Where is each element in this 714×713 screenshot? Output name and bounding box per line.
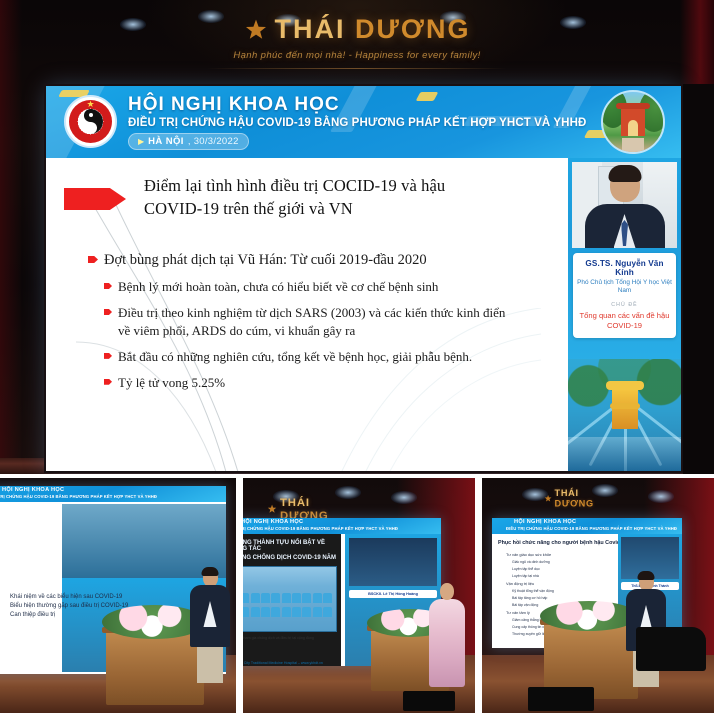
brand-name-part2: DƯƠNG — [355, 14, 470, 44]
slide-title: Điểm lại tình hình điều trị COCID-19 và … — [144, 174, 484, 221]
bullet-marker-icon — [104, 283, 112, 289]
speaker-video-panel: GS.TS. Nguyễn Văn Kính Phó Chủ tịch Tổng… — [568, 158, 681, 471]
thumb1-inset-photo — [62, 504, 226, 578]
thumb3-stage-monitor — [528, 687, 594, 711]
bullet-item: Điều trị theo kinh nghiệm từ dịch SARS (… — [104, 304, 518, 340]
brand-divider — [207, 68, 507, 69]
brand-tagline: Hạnh phúc đến mọi nhà! - Happiness for e… — [0, 50, 714, 61]
star-logo-icon — [267, 504, 277, 514]
bullet-marker-icon — [104, 379, 112, 385]
backdrop-branding: THÁI DƯƠNG Hạnh phúc đến mọi nhà! - Happ… — [0, 14, 714, 69]
thumb3-line: Tư vấn giáo dục sức khỏe — [506, 552, 610, 557]
thumbnail-3[interactable]: THÁI DƯƠNG HỘI NGHỊ KHOA HỌC ĐIỀU TRỊ CH… — [482, 478, 714, 713]
bullet-item: Bệnh lý mới hoàn toàn, chưa có hiểu biết… — [104, 278, 518, 296]
thumb3-flower-arrangement — [540, 601, 638, 631]
thumb2-speaker-name: BSCKII. Lê Thị Hồng Hoàng — [349, 590, 437, 598]
temple-photo-circle — [601, 90, 665, 154]
bullet-marker-icon — [104, 353, 112, 359]
thumb3-line: Kỹ thuật tổng thể vận động — [512, 589, 610, 593]
bullet-text: Bệnh lý mới hoàn toàn, chưa có hiểu biết… — [118, 278, 438, 296]
location-label: HÀ NỘI — [148, 136, 184, 147]
star-logo-icon — [244, 18, 268, 42]
bullet-marker-icon — [88, 256, 98, 263]
slide-header-banner: ★ HỘI NGHỊ KHOA HỌC ĐIỀU TRỊ CHỨNG HẬU C… — [46, 86, 681, 158]
bullet-text: Đợt bùng phát dịch tại Vũ Hán: Từ cuối 2… — [104, 250, 427, 270]
bullet-text: Điều trị theo kinh nghiệm từ dịch SARS (… — [118, 304, 518, 340]
slide-bullet-list: Đợt bùng phát dịch tại Vũ Hán: Từ cuối 2… — [88, 250, 518, 400]
speaker-topic: Tổng quan các vấn đề hậu COVID-19 — [577, 311, 672, 331]
chevron-right-icon: ▶ — [138, 137, 144, 146]
thumb2-presenter — [429, 583, 465, 687]
thumb1-header-subtitle: ĐIỀU TRỊ CHỨNG HẬU COVID-19 BẰNG PHƯƠNG … — [0, 494, 157, 499]
thumb2-header-title: HỘI NGHỊ KHOA HỌC — [243, 519, 303, 525]
yin-yang-icon — [78, 109, 103, 134]
screen-side-dark-area — [683, 84, 714, 474]
bullet-marker-icon — [104, 309, 112, 315]
topic-label: CHỦ ĐỀ — [577, 302, 672, 308]
bullet-item: Tỷ lệ tử vong 5.25% — [104, 374, 518, 392]
thumb3-grand-piano — [636, 627, 706, 671]
thumb2-footer: Ho Chi Minh City Traditional Medicine Ho… — [243, 661, 323, 665]
bullet-item: Bắt đầu có những nghiên cứu, tổng kết về… — [104, 348, 518, 366]
brand-name: THÁI DƯƠNG — [275, 14, 471, 45]
temple-gate-icon — [621, 108, 645, 136]
bullet-item: Đợt bùng phát dịch tại Vũ Hán: Từ cuối 2… — [88, 250, 518, 270]
location-date-badge: ▶ HÀ NỘI , 30/3/2022 — [128, 133, 249, 150]
thumb3-line: Luyện tập tại nhà — [512, 574, 610, 578]
thumb1-line: Khái niệm về các biểu hiện sau COVID-19 — [10, 594, 128, 600]
bullet-text: Bắt đầu có những nghiên cứu, tổng kết về… — [118, 348, 472, 366]
turtle-tower-graphic — [568, 359, 681, 471]
emblem-star-icon: ★ — [86, 100, 94, 109]
star-logo-icon — [544, 494, 552, 502]
thumb3-header-subtitle: ĐIỀU TRỊ CHỨNG HẬU COVID-19 BẰNG PHƯƠNG … — [506, 526, 677, 531]
thumb2-photo-caption: Nhân lực tham gia chống dịch và điều trị… — [243, 636, 314, 640]
thumb3-line: Luyện tập thể dục — [512, 567, 610, 571]
thumb1-presenter — [190, 569, 230, 683]
thumbnail-2[interactable]: THÁI DƯƠNG HỘI NGHỊ KHOA HỌC ĐIỀU TRỊ CH… — [243, 478, 475, 713]
conference-subtitle: ĐIỀU TRỊ CHỨNG HẬU COVID-19 BẰNG PHƯƠNG … — [128, 117, 585, 129]
thumbnail-1[interactable]: HỘI NGHỊ KHOA HỌC ĐIỀU TRỊ CHỨNG HẬU COV… — [0, 478, 236, 713]
speaker-video-feed — [572, 162, 677, 248]
thumb1-header-title: HỘI NGHỊ KHOA HỌC — [2, 487, 64, 493]
speaker-name: GS.TS. Nguyễn Văn Kính — [577, 259, 672, 277]
conference-emblem-icon: ★ — [64, 95, 117, 148]
thumb3-slide-title: Phục hồi chức năng cho người bệnh hậu Co… — [498, 540, 628, 546]
thumb2-stage-monitor — [403, 691, 455, 711]
brand-name-part1: THÁI — [275, 14, 346, 44]
thumb3-line: Bài tập tăng cơ hô hấp — [512, 596, 610, 600]
conference-photo-collage: THÁI DƯƠNG Hạnh phúc đến mọi nhà! - Happ… — [0, 0, 714, 713]
slide-body: Điểm lại tình hình điều trị COCID-19 và … — [46, 158, 681, 471]
thumb3-header-title: HỘI NGHỊ KHOA HỌC — [514, 519, 576, 525]
thumb1-line: Biểu hiện thường gặp sau điều trị COVID-… — [10, 603, 128, 609]
thumb3-line: Giấc ngủ và dinh dưỡng — [512, 560, 610, 564]
main-stage-photo: THÁI DƯƠNG Hạnh phúc đến mọi nhà! - Happ… — [0, 0, 714, 474]
thumb2-header-subtitle: ĐIỀU TRỊ CHỨNG HẬU COVID-19 BẰNG PHƯƠNG … — [243, 526, 398, 531]
speaker-info-card: GS.TS. Nguyễn Văn Kính Phó Chủ tịch Tổng… — [573, 253, 676, 338]
thumbnail-strip: HỘI NGHỊ KHOA HỌC ĐIỀU TRỊ CHỨNG HẬU COV… — [0, 478, 714, 713]
slide-header-text: HỘI NGHỊ KHOA HỌC ĐIỀU TRỊ CHỨNG HẬU COV… — [128, 94, 585, 150]
thumb3-line: Vận động trị liệu — [506, 581, 610, 586]
stage-curtain-left — [0, 0, 22, 474]
conference-title: HỘI NGHỊ KHOA HỌC — [128, 94, 585, 116]
projection-screen: ★ HỘI NGHỊ KHOA HỌC ĐIỀU TRỊ CHỨNG HẬU C… — [46, 86, 681, 471]
date-label: , 30/3/2022 — [188, 136, 239, 147]
thumb2-line: NHỮNG THÀNH TỰU NỔI BẬT VỀ CÔNG TÁC — [243, 540, 339, 552]
thumb2-group-photo — [243, 566, 337, 632]
speaker-role: Phó Chủ tịch Tổng Hội Y học Việt Nam — [577, 279, 672, 295]
bullet-text: Tỷ lệ tử vong 5.25% — [118, 374, 225, 392]
thumb3-backdrop-branding: THÁI DƯƠNG — [544, 488, 602, 509]
